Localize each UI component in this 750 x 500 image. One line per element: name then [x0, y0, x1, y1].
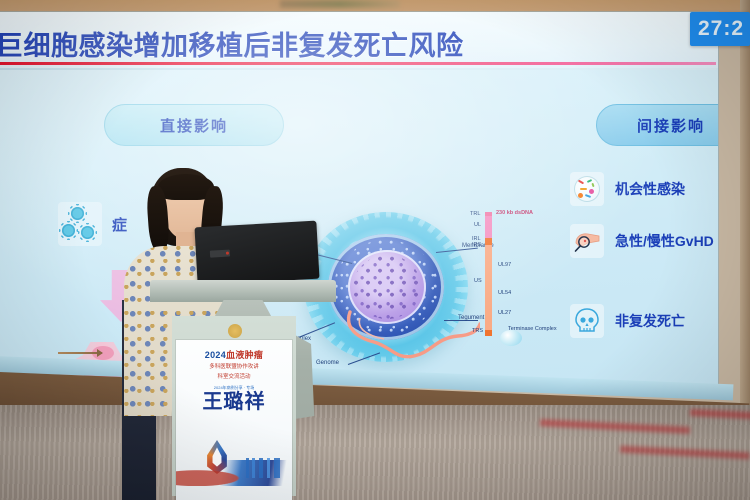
conference-photo: 巨细胞感染增加移植后非复发死亡风险 直接影响 间接影响 症 — [0, 0, 750, 500]
podium-emblem-icon — [228, 324, 242, 338]
carpet-floor — [0, 405, 750, 500]
heading-direct-effects: 直接影响 — [104, 104, 284, 146]
podium-brand-name: 血液肿瘤 — [226, 350, 263, 360]
segment-us — [485, 245, 492, 330]
gene-label-ul97: UL97 — [498, 262, 511, 268]
podium-brand-block: 2024血液肿瘤 多科医联盟协作攻讲 科室交流活动 2024年病例分享 · 专场 — [176, 348, 292, 391]
genome-label-us: US — [474, 278, 482, 284]
virus-cluster-icon — [58, 202, 102, 246]
genome-label-trl: TRL — [470, 211, 480, 217]
laptop — [194, 221, 319, 286]
genome-label-trs: TRS — [472, 328, 483, 334]
right-item-0-label: 机会性感染 — [615, 179, 685, 199]
microbe-glyph — [574, 176, 600, 202]
gene-label-ul27: UL27 — [498, 310, 511, 316]
podium-brand-line2: 多科医联盟协作攻讲 — [176, 363, 292, 371]
podium-top-surface — [150, 280, 336, 302]
podium-brand-title: 2024血液肿瘤 — [176, 348, 292, 361]
organ-arrow-0 — [58, 352, 102, 354]
countdown-timer: 27:2 — [690, 12, 750, 46]
title-underline-secondary — [0, 68, 716, 70]
carpet-stripe-0 — [540, 419, 690, 434]
terminase-complex-sphere — [500, 330, 522, 346]
right-item-2-label: 非复发死亡 — [615, 311, 685, 331]
podium-brand-line4: 2024年病例分享 · 专场 — [176, 385, 292, 391]
microbe-icon — [570, 172, 604, 206]
skull-icon — [570, 304, 604, 338]
hand-magnifier-glyph — [572, 227, 602, 255]
wall-smudge — [280, 0, 400, 8]
genome-label-dsdna: 230 kb dsDNA — [496, 210, 533, 216]
podium-speaker-name: 王璐祥 — [176, 392, 292, 414]
genome-label-irs: IRS — [472, 242, 481, 248]
genome-label-ul: UL — [474, 222, 481, 228]
laptop-logo — [210, 250, 230, 258]
title-underline — [0, 62, 716, 65]
podium-sign: 2024血液肿瘤 多科医联盟协作攻讲 科室交流活动 2024年病例分享 · 专场… — [176, 340, 292, 500]
segment-ul-top — [485, 216, 492, 238]
podium-brand-line3: 科室交流活动 — [176, 373, 292, 381]
right-item-1-label: 急性/慢性GvHD — [615, 231, 714, 251]
podium-skyline-graphic — [246, 458, 280, 478]
segment-trs — [485, 330, 492, 336]
segment-irl-irs — [485, 238, 492, 245]
projection-screen: 巨细胞感染增加移植后非复发死亡风险 直接影响 间接影响 症 — [0, 12, 718, 384]
left-item-0: 症 — [58, 202, 127, 246]
skull-glyph — [574, 307, 600, 335]
label-tegument: Tegument — [458, 315, 484, 322]
right-item-2: 非复发死亡 — [570, 304, 685, 338]
heading-indirect-effects: 间接影响 — [596, 104, 718, 146]
gene-label-ul54: UL54 — [498, 290, 511, 296]
hand-magnifier-icon — [570, 224, 604, 258]
carpet-stripe-2 — [690, 409, 750, 420]
podium-brand-year: 2024 — [205, 350, 226, 360]
genome-linear-map — [485, 212, 492, 336]
right-item-0: 机会性感染 — [570, 172, 685, 206]
podium: 2024血液肿瘤 多科医联盟协作攻讲 科室交流活动 2024年病例分享 · 专场… — [150, 280, 336, 500]
right-item-1: 急性/慢性GvHD — [570, 224, 714, 258]
slide-title: 巨细胞感染增加移植后非复发死亡风险 — [0, 24, 636, 63]
carpet-stripe-1 — [620, 446, 750, 460]
